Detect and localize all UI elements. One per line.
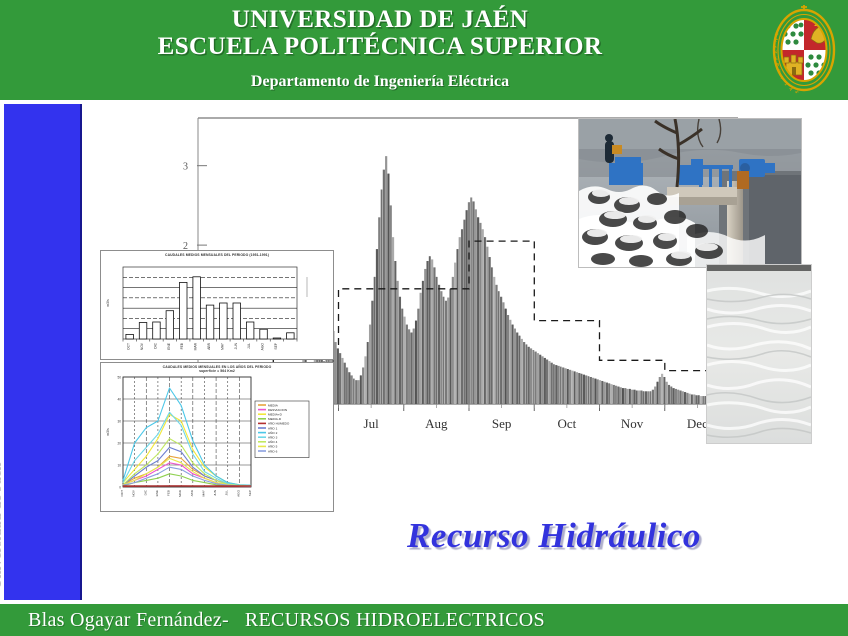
sidebar-vertical-text: Blas Ogayar Fernández Departamento de In… [0,100,4,596]
svg-text:AÑO 5: AÑO 5 [268,444,278,449]
svg-text:MEDIA-D: MEDIA-D [268,417,282,421]
svg-text:FEB: FEB [167,490,171,496]
svg-text:MAY: MAY [220,342,224,350]
svg-text:Sep: Sep [492,416,512,431]
svg-text:Dec: Dec [687,416,708,431]
svg-text:ENE: ENE [155,490,159,496]
svg-text:MAR: MAR [178,489,182,497]
svg-text:MAR: MAR [194,342,198,350]
svg-text:DIC: DIC [143,489,147,495]
svg-text:ABR: ABR [207,342,211,349]
page-title: Recurso Hidráulico [324,516,784,556]
footer-text: Blas Ogayar Fernández- RECURSOS HIDROELE… [28,607,545,633]
svg-text:JUL: JUL [247,343,251,349]
svg-text:JUN: JUN [213,490,217,496]
svg-text:FEB: FEB [180,342,184,349]
universidad-de-jaen-shield-icon: U N I V E R S I T A S [770,4,838,94]
footer-author: Blas Ogayar Fernández- [28,609,229,631]
svg-text:AGO: AGO [236,489,240,496]
river-intake-winter-photo [578,118,802,268]
svg-text:AÑO 1: AÑO 1 [268,425,278,430]
header-titles: UNIVERSIDAD DE JAÉN ESCUELA POLITÉCNICA … [0,6,760,92]
water-surface-photo [706,264,812,444]
slide-header: UNIVERSIDAD DE JAÉN ESCUELA POLITÉCNICA … [0,0,848,100]
slide-footer: Blas Ogayar Fernández- RECURSOS HIDROELE… [0,604,848,636]
svg-text:40: 40 [117,397,121,401]
footer-subject: RECURSOS HIDROELECTRICOS [245,609,545,631]
svg-text:Nov: Nov [621,416,644,431]
slide-root: UNIVERSIDAD DE JAÉN ESCUELA POLITÉCNICA … [0,0,848,636]
svg-text:50: 50 [117,375,121,379]
svg-text:ABR: ABR [190,489,194,496]
header-line-2: ESCUELA POLITÉCNICA SUPERIOR [0,33,760,60]
daily-flow-curves-line-chart: CAUDALES MEDIOS MENSUALES EN LOS AÑOS DE… [100,362,334,512]
svg-text:AÑO HUMEDO: AÑO HUMEDO [268,421,290,426]
svg-text:m3/s: m3/s [106,299,110,307]
svg-text:AGO: AGO [261,343,265,351]
svg-text:OCT: OCT [127,343,131,350]
svg-text:Jul: Jul [364,416,380,431]
svg-text:Aug: Aug [425,416,448,431]
line-chart-subtitle: superficie = 564 Km2 [101,369,333,373]
svg-text:MEDIA+D: MEDIA+D [268,413,283,417]
svg-text:MAY: MAY [201,490,205,496]
svg-text:T: T [783,81,789,87]
svg-text:S: S [777,68,781,74]
svg-text:SEP: SEP [274,342,278,349]
svg-text:0: 0 [119,485,121,489]
svg-text:JUN: JUN [234,342,238,349]
svg-text:10: 10 [117,463,121,467]
svg-text:30: 30 [117,419,121,423]
sidebar-line-3: Universidad de Jaén [0,356,4,590]
header-line-3: Departamento de Ingeniería Eléctrica [0,72,760,92]
svg-text:DESVIACION: DESVIACION [268,408,287,412]
svg-text:S: S [794,90,800,94]
svg-text:JUL: JUL [225,490,229,496]
svg-text:DIC: DIC [153,342,157,348]
svg-text:A: A [788,86,794,92]
monthly-mean-flows-bar-chart: CAUDALES MEDIOS MENSUALES DEL PERIODO (1… [100,250,334,360]
svg-text:20: 20 [117,441,121,445]
svg-text:ENE: ENE [167,342,171,350]
sidebar-author-bar: Blas Ogayar Fernández Departamento de In… [4,104,82,600]
bar-chart-title: CAUDALES MEDIOS MENSUALES DEL PERIODO (1… [101,253,333,257]
slide-content: 23MayJunJulAugSepOctNovDec CAUDALES MEDI… [84,104,848,600]
svg-text:AÑO 4: AÑO 4 [268,439,278,444]
svg-text:AÑO 6: AÑO 6 [268,448,278,453]
svg-text:NOV: NOV [132,489,136,497]
svg-text:AÑO 3: AÑO 3 [268,435,278,440]
svg-text:m3/s: m3/s [106,428,110,436]
svg-text:Oct: Oct [557,416,576,431]
header-line-1: UNIVERSIDAD DE JAÉN [0,6,760,33]
svg-text:SEP: SEP [248,490,252,496]
svg-text:3: 3 [183,162,188,173]
svg-text:OCT: OCT [120,490,124,497]
svg-text:AÑO 2: AÑO 2 [268,430,278,435]
svg-text:MEDIA: MEDIA [268,403,279,407]
svg-text:NOV: NOV [140,342,144,350]
